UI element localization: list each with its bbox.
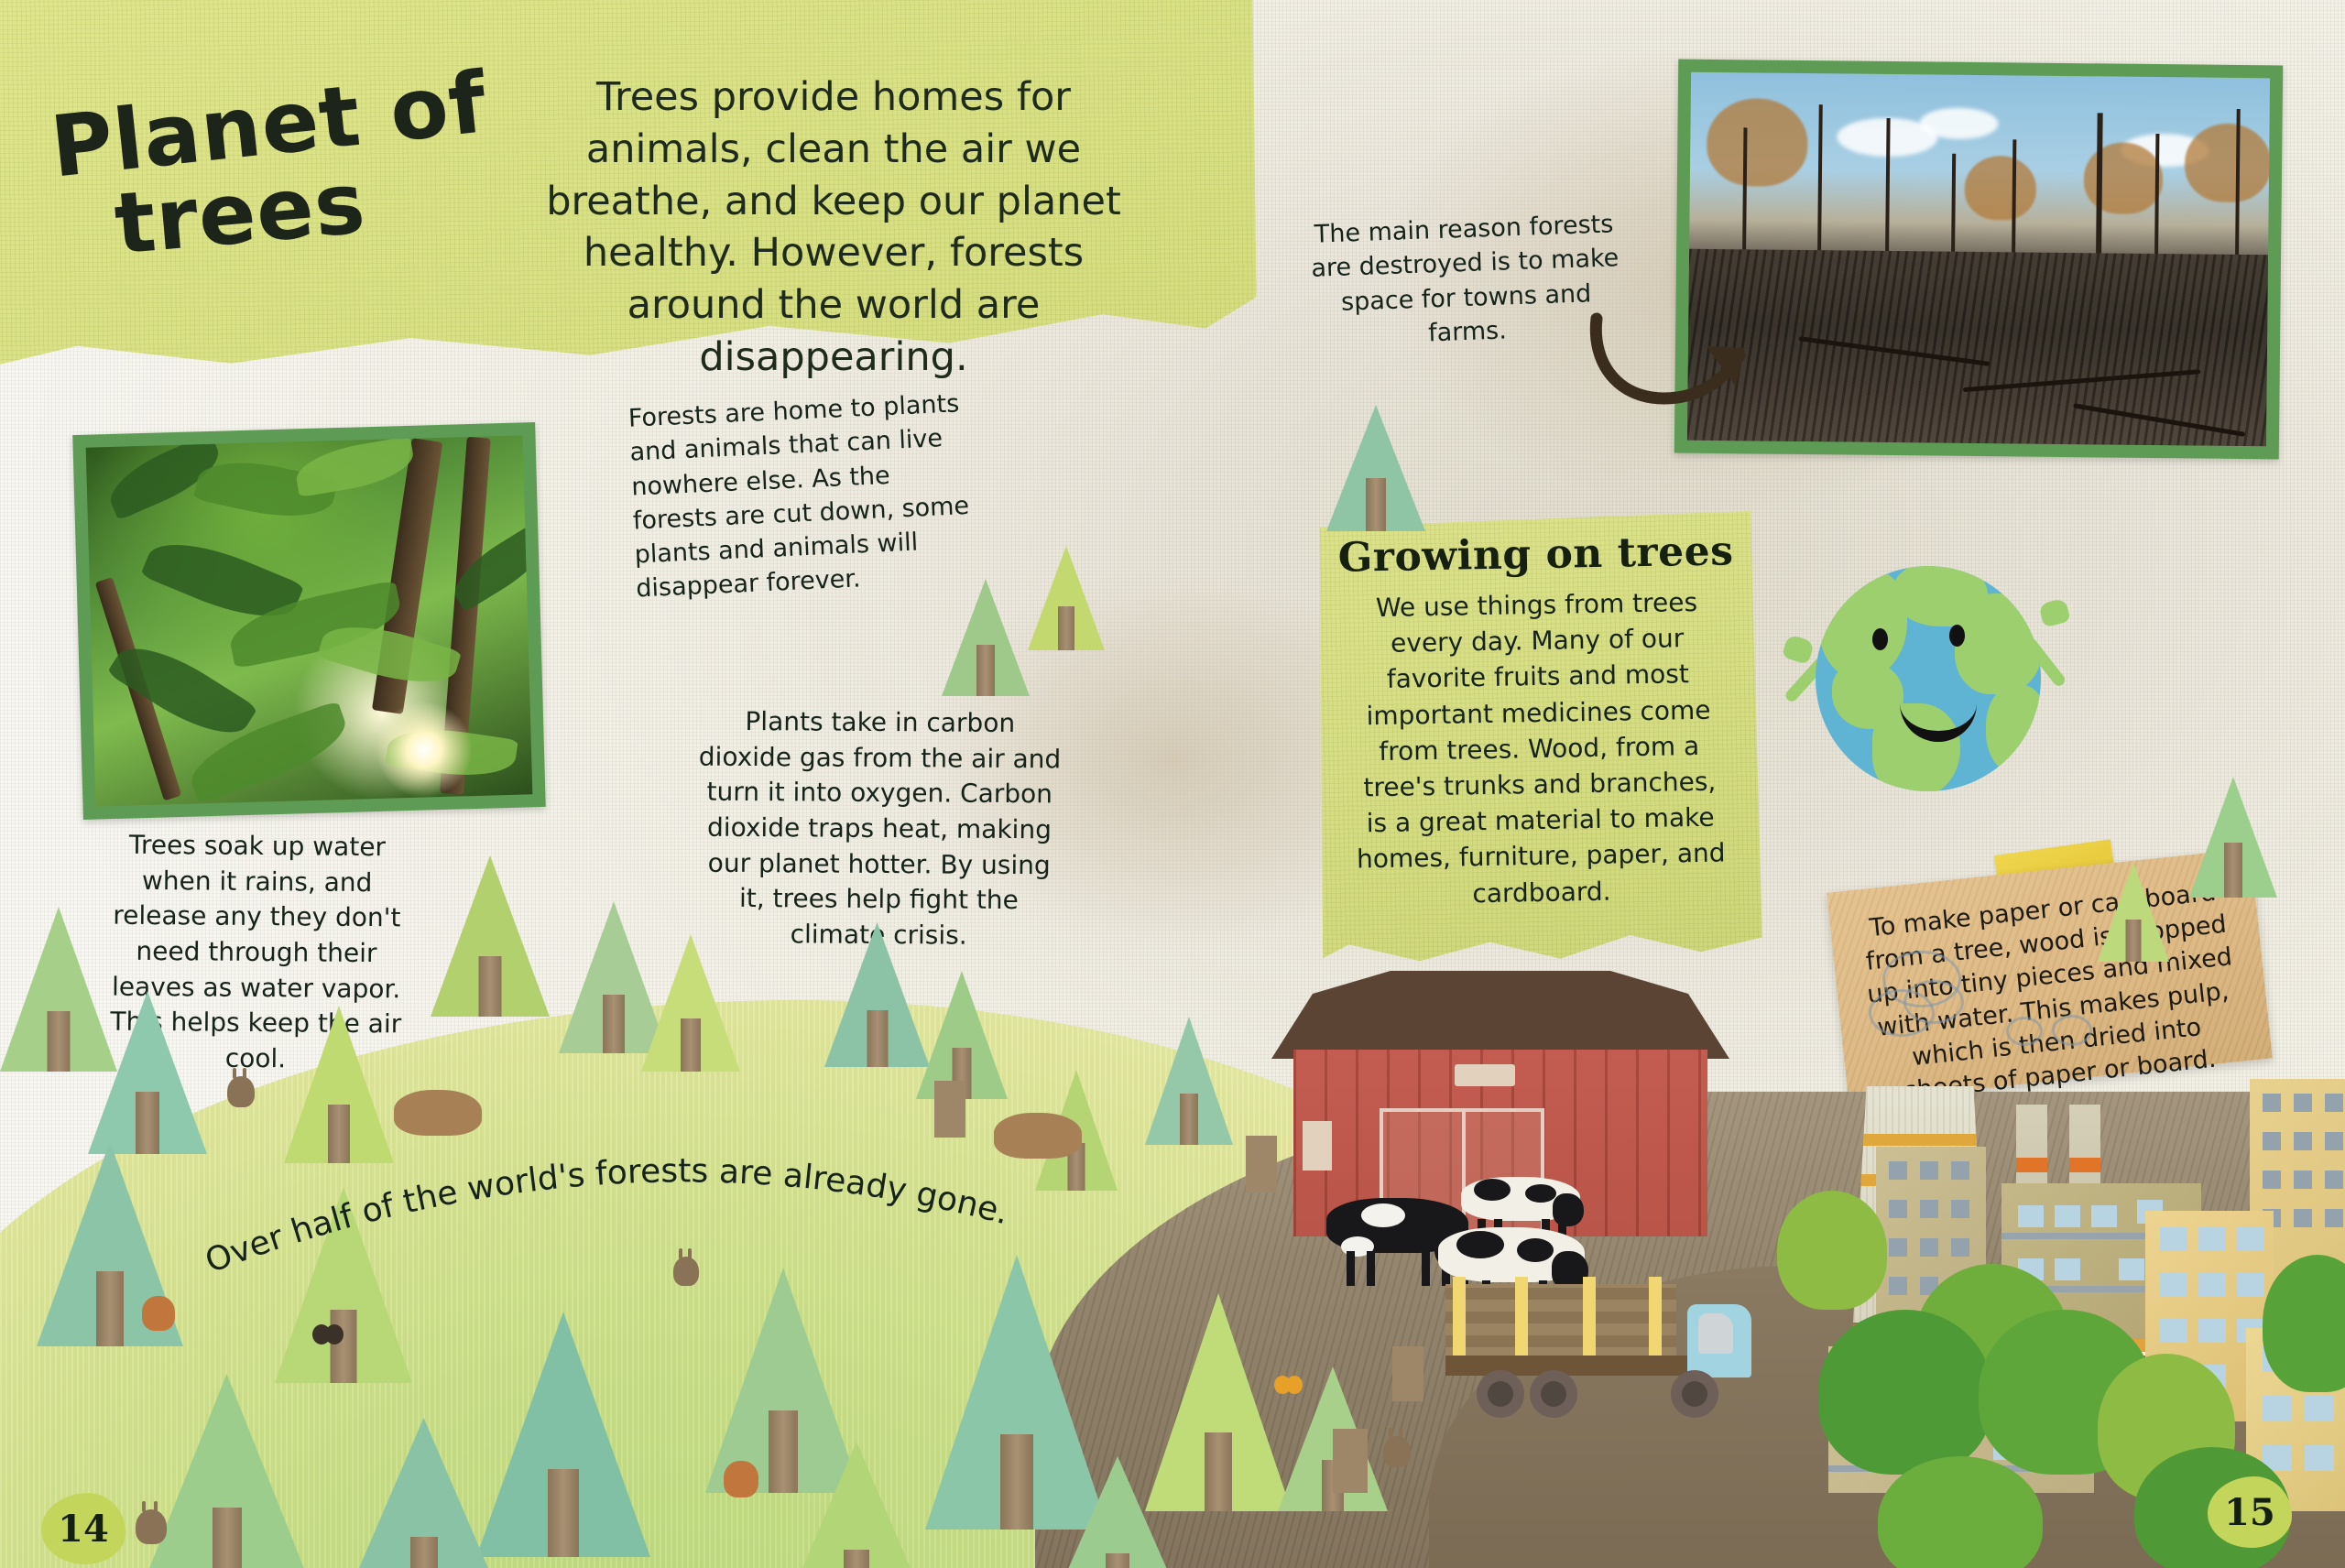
- earth-eye-left: [1872, 628, 1888, 650]
- city-bush: [1818, 1310, 1992, 1475]
- truck-stake: [1583, 1277, 1596, 1365]
- truck-stake: [1649, 1277, 1662, 1365]
- tree-stump: [1333, 1429, 1368, 1493]
- truck-chassis: [1445, 1356, 1695, 1376]
- barn-window: [1303, 1121, 1332, 1171]
- butterfly-icon: [311, 1323, 344, 1351]
- conifer-tree: [431, 806, 550, 1017]
- butterfly-icon: [1273, 1374, 1304, 1399]
- book-spread: Planet of trees Trees provide homes for …: [0, 0, 2345, 1568]
- fox: [724, 1461, 758, 1497]
- conifer-tree: [1053, 1410, 1182, 1568]
- truck-stake: [1515, 1277, 1528, 1365]
- conifer-tree: [1028, 513, 1105, 650]
- page-number-right: 15: [2208, 1476, 2292, 1548]
- curved-caption-forests-gone: Over half of the world's forests are alr…: [202, 1127, 1026, 1291]
- conifer-tree: [2098, 824, 2169, 962]
- conifer-tree: [788, 1392, 925, 1568]
- page-title-line2: trees: [112, 154, 490, 264]
- truck-wheel: [1671, 1370, 1718, 1418]
- tree-stump: [1392, 1346, 1423, 1401]
- caption-forest-biodiversity: Forests are home to plants and animals t…: [627, 386, 985, 606]
- truck-cab-window: [1698, 1313, 1733, 1354]
- conifer-tree: [641, 888, 740, 1072]
- page-title: Planet of trees: [50, 87, 487, 247]
- conifer-tree: [1145, 971, 1233, 1145]
- conifer-tree: [1326, 366, 1425, 531]
- truck-stake: [1453, 1277, 1466, 1365]
- photo-rainforest-image: [86, 435, 533, 806]
- conifer-tree: [2189, 733, 2277, 898]
- conifer-tree: [824, 870, 930, 1067]
- conifer-tree: [147, 1310, 307, 1568]
- truck-wheel: [1530, 1370, 1577, 1418]
- intro-paragraph: Trees provide homes for animals, clean t…: [513, 71, 1154, 384]
- caption-forest-destruction: The main reason forests are destroyed is…: [1303, 207, 1629, 354]
- earth-character: [1795, 550, 2061, 815]
- barn-roof: [1271, 971, 1729, 1059]
- photo-rainforest-canopy: [72, 422, 546, 820]
- curved-caption-text: Over half of the world's forests are alr…: [202, 1152, 1013, 1280]
- logging-truck: [1445, 1253, 1748, 1418]
- smoke-cloud: [2052, 1015, 2092, 1046]
- rabbit: [227, 1076, 255, 1107]
- barn-vent: [1455, 1064, 1515, 1086]
- truck-wheel: [1477, 1370, 1524, 1418]
- smoke-cloud: [1869, 989, 1935, 1037]
- page-number-left: 14: [41, 1493, 125, 1564]
- rabbit: [136, 1509, 167, 1544]
- conifer-tree: [942, 540, 1030, 696]
- rabbit: [1383, 1436, 1411, 1467]
- conifer-tree: [916, 925, 1008, 1099]
- panel-growing-body: We use things from trees every day. Many…: [1316, 578, 1761, 914]
- smoke-cloud: [2006, 1017, 2043, 1046]
- city-bush: [1777, 1191, 1887, 1310]
- truck-log-load: [1445, 1284, 1676, 1359]
- earth-eye-right: [1949, 625, 1965, 647]
- conifer-tree: [348, 1365, 499, 1568]
- fox: [142, 1296, 175, 1331]
- earth-globe: [1816, 566, 2041, 791]
